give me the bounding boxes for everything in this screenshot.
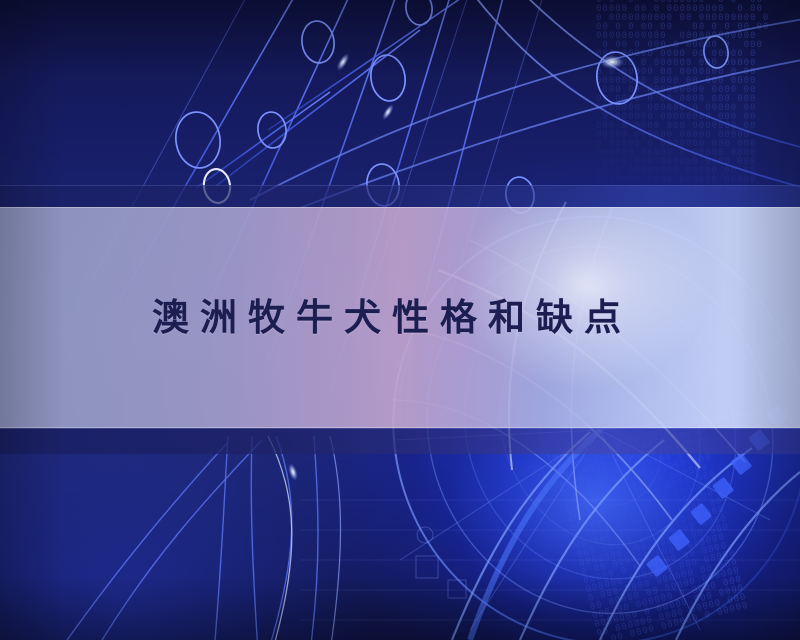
title-container: 澳洲牧牛犬性格和缺点 <box>0 207 800 428</box>
banner-image: 0 0 0 00000000 0 0 00 00000 00 0 0000000… <box>0 0 800 640</box>
banner-band-top <box>0 185 800 207</box>
page-title: 澳洲牧牛犬性格和缺点 <box>152 299 632 336</box>
banner-band-bottom <box>0 428 800 454</box>
